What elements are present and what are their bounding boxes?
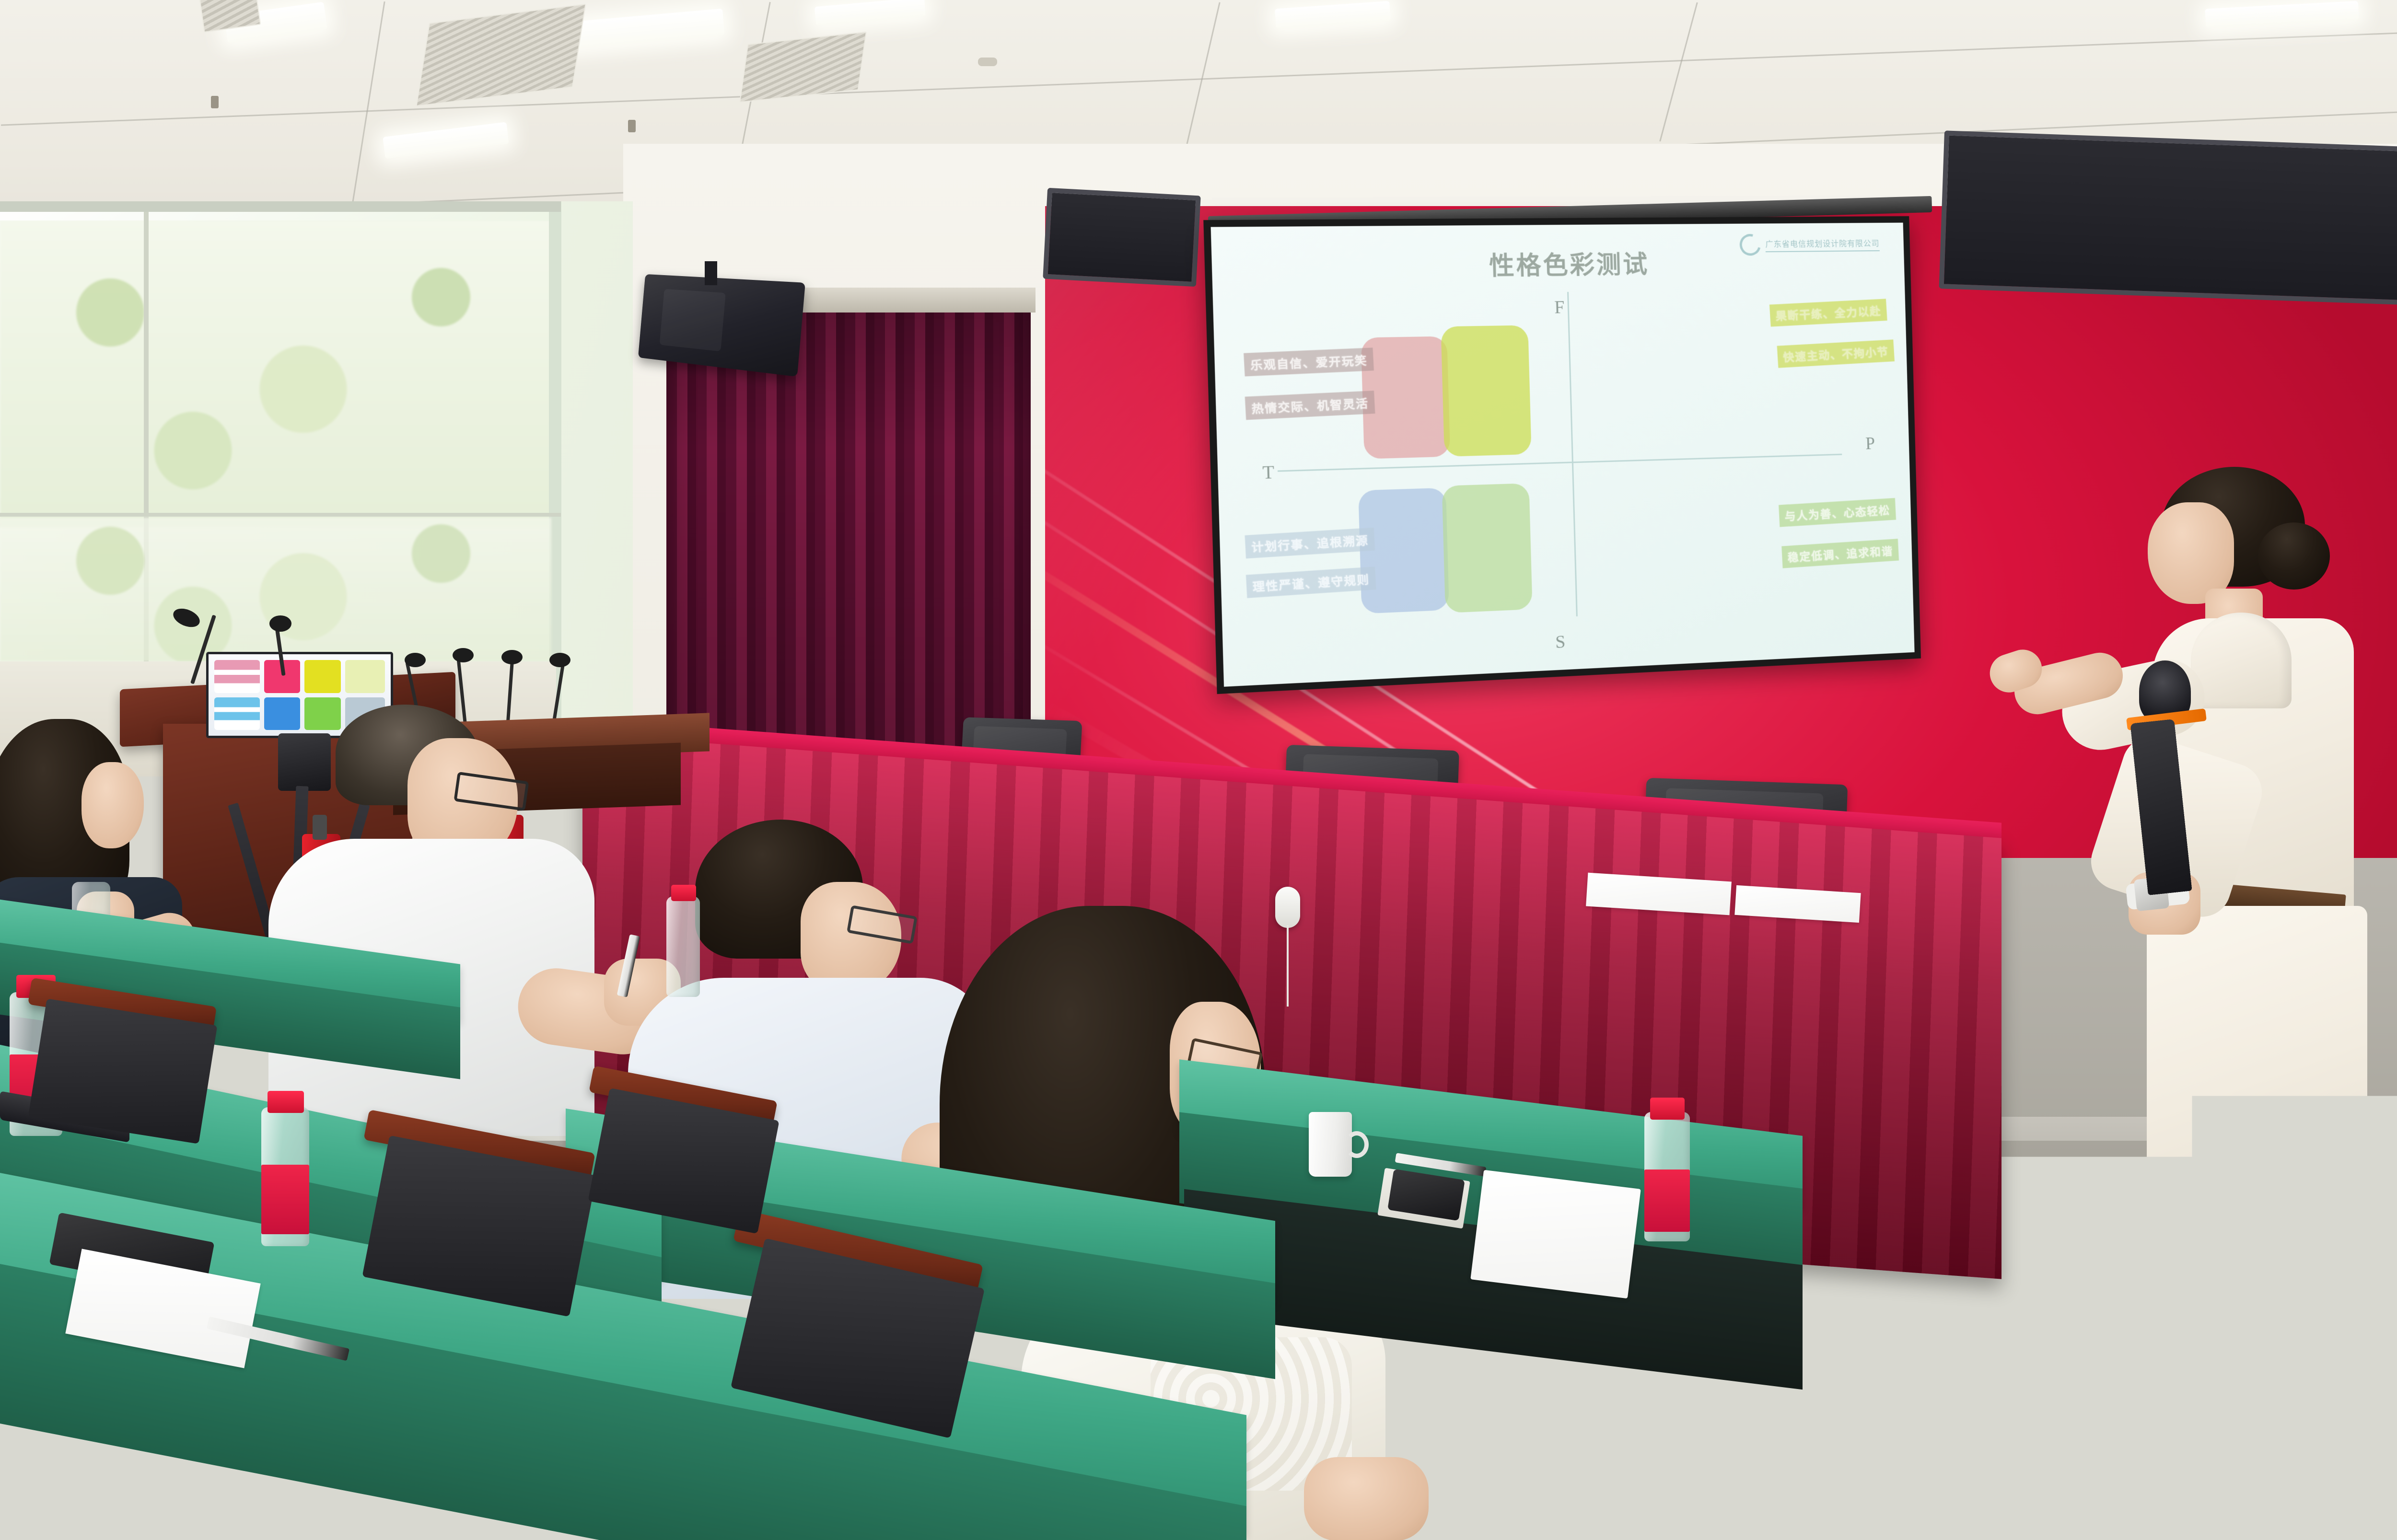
bottle-label — [261, 1165, 309, 1234]
presenter-hair-bun — [2258, 522, 2330, 590]
sprinkler-head — [628, 120, 636, 132]
slide-title: 性格色彩测试 — [1489, 244, 1650, 282]
slide-company-logo: 广东省电信规划设计院有限公司 — [1739, 233, 1880, 255]
bottle-cap — [671, 885, 696, 901]
window-foliage — [0, 220, 551, 527]
window-mullion — [0, 513, 561, 517]
ceiling-air-vent — [416, 4, 586, 107]
podium-tile-yellow — [304, 660, 341, 693]
attendee-face — [81, 762, 144, 848]
presenter-collar — [2191, 613, 2292, 708]
logo-mark-icon — [1736, 230, 1765, 259]
av-wall-panel — [1043, 188, 1201, 287]
logo-company-name: 广东省电信规划设计院有限公司 — [1765, 236, 1880, 252]
tagline-red-1: 乐观自信、爱开玩笑 — [1244, 347, 1374, 376]
bottle-cap — [1650, 1098, 1685, 1120]
audience-chair[interactable] — [364, 1131, 614, 1467]
podium-tile-lightyellow — [345, 660, 385, 693]
speaker-mount — [705, 261, 717, 285]
podium-tile-bars-pink — [214, 660, 260, 693]
ceiling-light — [815, 0, 926, 26]
quadrant-blue-block — [1358, 488, 1449, 614]
projection-screen[interactable]: 广东省电信规划设计院有限公司 性格色彩测试 F T P S 乐观自信、爱开玩笑 … — [1203, 216, 1921, 694]
presenter — [2033, 460, 2397, 1409]
conference-room-scene: 广东省电信规划设计院有限公司 性格色彩测试 F T P S 乐观自信、爱开玩笑 … — [0, 0, 2397, 1540]
slide-axis-horizontal — [1278, 454, 1842, 472]
paper-sheet[interactable] — [1470, 1170, 1641, 1299]
attendee-leg — [1304, 1457, 1429, 1540]
audience-chair[interactable] — [29, 992, 230, 1261]
desk-mic-head — [405, 653, 426, 667]
bottle-label — [1644, 1169, 1690, 1232]
ceiling-grid-line — [1, 19, 2397, 126]
presenter-shoe — [2223, 1343, 2316, 1383]
tagline-blue-1: 计划行事、追根溯源 — [1245, 528, 1375, 558]
axis-label-t: T — [1262, 462, 1275, 484]
bottle-cap — [268, 1091, 304, 1113]
window-frame-top — [0, 201, 561, 212]
window-foliage — [0, 518, 551, 661]
axis-label-p: P — [1865, 433, 1875, 454]
ceiling-light — [1275, 1, 1391, 29]
slide-axis-vertical — [1567, 292, 1578, 616]
empty-wooden-chair[interactable] — [2387, 892, 2397, 1404]
tagline-red-2: 热情交际、机智灵活 — [1245, 391, 1375, 420]
tagline-yellow-1: 果断干练、全力以赴 — [1769, 299, 1887, 326]
ceiling-grid-line — [1659, 2, 1698, 142]
desk-mic-head — [549, 653, 570, 667]
tagline-green-2: 稳定低调、追求和谐 — [1781, 539, 1899, 568]
ceiling-light — [2205, 1, 2359, 28]
smoke-detector — [978, 58, 997, 66]
tagline-green-1: 与人为善、心态轻松 — [1779, 498, 1896, 527]
podium-mic-head — [269, 615, 291, 632]
desk-mic-head — [501, 650, 523, 664]
quadrant-green-block — [1442, 483, 1533, 613]
quadrant-yellow-block — [1441, 325, 1531, 456]
tagline-blue-2: 理性严谨、遵守规则 — [1246, 567, 1376, 598]
mug-handle — [1345, 1131, 1369, 1158]
projection-screen-surface: 广东省电信规划设计院有限公司 性格色彩测试 F T P S 乐观自信、爱开玩笑 … — [1211, 223, 1915, 687]
av-wall-panel-large — [1939, 130, 2397, 305]
ceiling-light — [383, 122, 509, 159]
tagline-yellow-2: 快速主动、不拘小节 — [1777, 339, 1895, 368]
sprinkler-head — [211, 96, 219, 108]
axis-label-f: F — [1554, 297, 1565, 318]
water-bottle[interactable] — [666, 896, 700, 997]
presenter-skirt — [2147, 906, 2367, 1289]
audience-chair[interactable] — [590, 1083, 791, 1332]
axis-label-s: S — [1555, 631, 1566, 653]
ceiling-light — [565, 9, 725, 49]
desk-mic-head — [453, 648, 474, 662]
